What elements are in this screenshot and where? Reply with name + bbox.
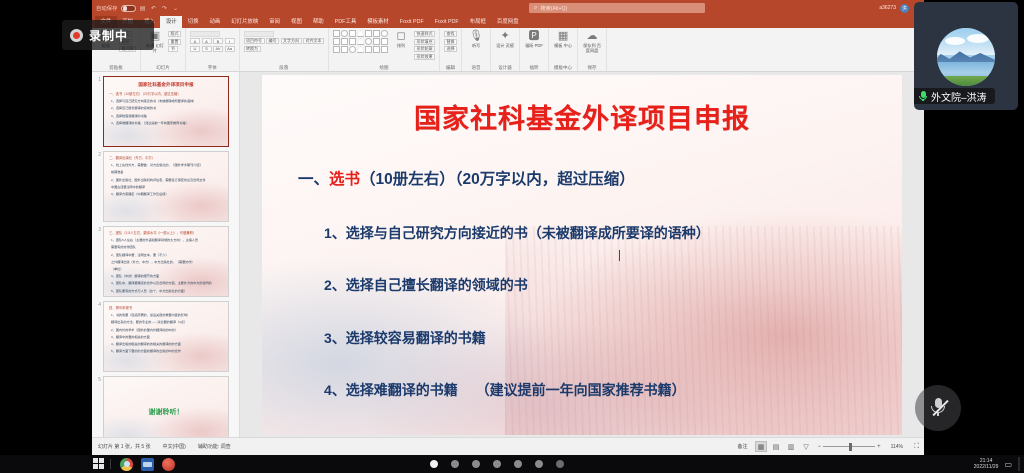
avatar-grass: [937, 76, 995, 86]
slide-thumbnail-line-3-4: （单位）: [111, 266, 228, 271]
ribbon-big-label-9: 模板 中心: [554, 43, 572, 48]
ribbon-combo-row-2: [190, 31, 235, 37]
slide-thumbnail-line-1-2: 3、选择较容易翻译的书籍: [111, 113, 228, 118]
slide-thumbnail-card-1[interactable]: 国家社科基金外译项目申报一、选书（10册左右）（20万字以内，超过压缩）1、选择…: [103, 76, 229, 147]
slide-thumbnail-thanks-5: 谢谢聆听！: [104, 407, 228, 417]
slide-thumbnail-line-1-0: 1、选择与自己研究方向接近的书（未被翻译成所要译的语种）: [111, 98, 228, 103]
slide-count-label: 幻灯片 第 1 张，共 5 张: [92, 443, 157, 450]
taskbar-window-list: [430, 460, 564, 468]
ribbon-control-2-7[interactable]: Aa: [225, 46, 235, 52]
meeting-app-icon[interactable]: [162, 458, 175, 471]
ribbon-control-3-3[interactable]: 对齐文本: [303, 38, 324, 44]
ribbon-group-label-3: 段落: [240, 65, 329, 71]
slide-thumbnail-subtitle-2: 二、翻译出版社（外方、中方）: [109, 155, 228, 160]
windows-taskbar: 21:14 2022/11/29 ▭: [0, 455, 1024, 473]
ribbon-group-controls-5: 查找替换选择: [444, 30, 457, 52]
mute-microphone-button[interactable]: [915, 385, 961, 431]
accessibility-label[interactable]: 辅助功能: 调查: [192, 443, 237, 450]
microphone-icon[interactable]: 🎙听写: [466, 30, 486, 48]
ribbon-row-4-2: 形状轮廓: [414, 46, 435, 52]
shape-swatch-6[interactable]: [381, 30, 388, 37]
normal-view-icon[interactable]: ▦: [755, 441, 767, 452]
ribbon-row-5-1: 替换: [444, 39, 457, 45]
ribbon-row-3-0: 项目符号编号文字方向对齐文本: [244, 38, 325, 44]
slide-thumbnail-line-4-2: 2、国内外的学术（国外的国内外翻译的的中的）: [111, 327, 228, 332]
ribbon-group-label-4: 绘图: [329, 65, 439, 71]
zoom-in-icon[interactable]: +: [877, 444, 881, 450]
ribbon-group-label-2: 字体: [186, 65, 239, 71]
record-dot-icon: [70, 29, 83, 42]
slide-thumbnail-line-2-1: 前期准备: [111, 169, 228, 174]
slide-thumbnail-3[interactable]: 3三、团队（3-5人左右，翻译水平《一般以上》，可做兼职）1、团队5人左右（主要…: [94, 226, 239, 297]
shape-swatch-17[interactable]: [357, 46, 364, 53]
shape-swatch-1[interactable]: [341, 30, 348, 37]
save-icon[interactable]: ▤: [139, 4, 147, 12]
taskbar-divider: [110, 459, 111, 469]
quick-access-toolbar: 自动保存 ▤ ↶ ↷ ⌄: [92, 4, 342, 12]
ribbon-control-2-1[interactable]: A: [202, 38, 212, 44]
shape-swatch-0[interactable]: [333, 30, 340, 37]
slide-thumbnail-card-5[interactable]: 谢谢聆听！: [103, 376, 229, 437]
slide-thumbnail-number-1: 1: [94, 76, 101, 147]
reading-view-icon[interactable]: ▥: [785, 441, 797, 452]
slide-title[interactable]: 国家社科基金外译项目申报: [262, 97, 902, 136]
template-icon[interactable]: ▦模板 中心: [553, 30, 573, 48]
shapes-icon[interactable]: ◻排列: [391, 30, 411, 48]
explorer-icon[interactable]: [141, 458, 154, 471]
ribbon-tab-bar: 文件开始插入设计切换动画幻灯片放映审阅视图帮助PDF工具模板素材Foxit PD…: [92, 16, 924, 28]
search-box[interactable]: ⌕ 搜索(Alt+Q): [529, 3, 705, 13]
record-dot-inner: [73, 32, 80, 39]
shape-swatch-13[interactable]: [381, 38, 388, 45]
work-area: 1国家社科基金外译项目申报一、选书（10册左右）（20万字以内，超过压缩）1、选…: [92, 72, 924, 437]
pdf-icon-glyph: 🅿: [529, 30, 540, 42]
slide-thumbnail-line-3-0: 1、团队5人左右（主要的外语和翻译领域的大方向），主编人员: [111, 237, 228, 242]
ribbon-group-label-6: 语音: [462, 65, 490, 71]
slide-thumbnail-line-2-2: 2、国外出版社、国外出版机构评估表、需要签订保密协议及合同文件: [111, 177, 228, 182]
ribbon-control-2-5[interactable]: S: [202, 46, 212, 52]
ribbon-control-5-0[interactable]: 查找: [444, 31, 457, 37]
ribbon-group-2: AABIUSAVAa字体: [186, 28, 240, 71]
ribbon-tab-15[interactable]: 百度网盘: [491, 16, 524, 28]
ribbon-tab-9[interactable]: 帮助: [307, 16, 329, 28]
ribbon-tab-6[interactable]: 幻灯片放映: [226, 16, 264, 28]
shape-swatch-3[interactable]: [357, 30, 364, 37]
ribbon-tab-4[interactable]: 切换: [182, 16, 204, 28]
slide-bullet-3[interactable]: 3、选择较容易翻译的书籍: [324, 328, 486, 348]
slide-thumbnail-number-5: 5: [94, 376, 101, 437]
ribbon-control-4-1[interactable]: 形状填充: [414, 39, 435, 45]
subtitle-highlight: 选书: [329, 171, 360, 188]
shape-swatch-8[interactable]: [341, 38, 348, 45]
zoom-track[interactable]: [823, 446, 875, 447]
ribbon-tab-14[interactable]: 布局框: [464, 16, 491, 28]
cloud-save-icon[interactable]: ☁保存到 百度网盘: [582, 30, 602, 53]
taskbar-window-1[interactable]: [430, 460, 438, 468]
ribbon-group-10: ☁保存到 百度网盘保存: [578, 28, 607, 71]
ribbon-group-controls-3: 项目符号编号文字方向对齐文本转换为: [244, 30, 325, 52]
ribbon-tab-7[interactable]: 审阅: [264, 16, 286, 28]
ribbon-group-label-1: 幻灯片: [141, 65, 185, 71]
slide-thumbnail-number-2: 2: [94, 151, 101, 222]
ribbon-group-6: 🎙听写语音: [462, 28, 491, 71]
ribbon-tab-12[interactable]: Foxit PDF: [394, 16, 429, 28]
title-bar: 自动保存 ▤ ↶ ↷ ⌄ 国家社科基金外译项目申报 • 已保存到这台电脑 ⌕ 搜…: [92, 0, 924, 16]
microphone-muted-icon: [931, 398, 945, 418]
design-ideas-icon-glyph: ✦: [500, 30, 509, 42]
shape-swatch-10[interactable]: [357, 38, 364, 45]
slide-thumbnail-number-4: 4: [94, 301, 101, 372]
template-icon-glyph: ▦: [558, 30, 568, 42]
subtitle-prefix: 一、: [298, 171, 329, 188]
ribbon-group-9: ▦模板 中心模板中心: [549, 28, 578, 71]
notification-icon[interactable]: ▭: [1004, 460, 1012, 469]
recording-label: 录制中: [89, 27, 128, 44]
ribbon-control-4-3[interactable]: 形状效果: [414, 54, 435, 60]
text-cursor-icon: [619, 250, 620, 261]
powerpoint-window: 自动保存 ▤ ↶ ↷ ⌄ 国家社科基金外译项目申报 • 已保存到这台电脑 ⌕ 搜…: [92, 0, 924, 455]
notes-button[interactable]: 备注: [732, 443, 754, 450]
current-slide[interactable]: 国家社科基金外译项目申报 一、选书（10册左右）（20万字以内，超过压缩） 1、…: [262, 75, 902, 435]
ribbon-row-4-1: 形状填充: [414, 39, 435, 45]
avatar-cloud-2: [967, 34, 989, 43]
pdf-icon[interactable]: 🅿福昕 PDF: [524, 30, 544, 48]
ribbon-tab-10[interactable]: PDF工具: [329, 16, 362, 28]
screen-root: 自动保存 ▤ ↶ ↷ ⌄ 国家社科基金外译项目申报 • 已保存到这台电脑 ⌕ 搜…: [0, 0, 1024, 473]
slide-subtitle[interactable]: 一、选书（10册左右）（20万字以内，超过压缩）: [298, 167, 635, 189]
shape-swatch-20[interactable]: [381, 46, 388, 53]
user-id-label: a36273: [879, 5, 896, 11]
mic-stem: [922, 99, 923, 101]
zoom-level-label[interactable]: 114%: [885, 444, 909, 450]
ribbon-big-label-8: 福昕 PDF: [525, 43, 543, 48]
ribbon-control-2-2[interactable]: B: [213, 38, 223, 44]
ribbon-tab-13[interactable]: Foxit PDF: [429, 16, 464, 28]
slideshow-view-icon[interactable]: ▽: [800, 441, 812, 452]
ribbon-control-5-1[interactable]: 替换: [444, 39, 457, 45]
shape-swatch-12[interactable]: [373, 38, 380, 45]
slide-bullet-4[interactable]: 4、选择难翻译的书籍 （建议提前一年向国家推荐书籍）: [324, 380, 686, 400]
ribbon-control-3-0[interactable]: 项目符号: [244, 38, 265, 44]
slide-thumbnail-pane[interactable]: 1国家社科基金外译项目申报一、选书（10册左右）（20万字以内，超过压缩）1、选…: [92, 72, 240, 437]
slide-thumbnail-card-2[interactable]: 二、翻译出版社（外方、中方）1、线上先找外方，需要做：对方出版社的，《国外学术期…: [103, 151, 229, 222]
ribbon-row-1-0: 版式: [168, 31, 181, 37]
shape-swatch-5[interactable]: [373, 30, 380, 37]
windows-start-icon[interactable]: [93, 458, 105, 470]
slide-thumbnail-line-3-6: 4、团队中，翻译要确定的合作以及合同的方面，主要外方的中方的合同的: [111, 280, 228, 285]
ribbon-group-controls-1: 版式重置节: [168, 30, 181, 52]
shape-swatch-4[interactable]: [365, 30, 372, 37]
ribbon: 📋粘贴剪切复制格式刷剪贴板▣新建 幻灯片版式重置节幻灯片AABIUSAVAa字体…: [92, 28, 924, 72]
slide-sorter-view-icon[interactable]: ▤: [770, 441, 782, 452]
slide-thumbnail-subtitle-1: 一、选书（10册左右）（20万字以内，超过压缩）: [109, 91, 228, 96]
taskbar-window-2[interactable]: [451, 460, 459, 468]
taskbar-window-4[interactable]: [493, 460, 501, 468]
ribbon-row-2-4: USAVAa: [190, 46, 235, 52]
shapes-icon-glyph: ◻: [396, 30, 405, 42]
ribbon-group-label-7: 设计器: [491, 65, 519, 71]
ribbon-row-4-3: 形状效果: [414, 54, 435, 60]
language-label[interactable]: 中文(中国): [157, 443, 192, 450]
ribbon-group-3: 项目符号编号文字方向对齐文本转换为 段落: [240, 28, 330, 71]
ribbon-group-label-8: 福昕: [520, 65, 548, 71]
participant-name: 外文院–洪涛: [931, 89, 987, 104]
ribbon-row-5-2: 选择: [444, 46, 457, 52]
ribbon-row-1-2: 节: [168, 46, 181, 52]
ribbon-group-label-0: 剪贴板: [92, 65, 140, 71]
ribbon-group-controls-4: 快速样式形状填充形状轮廓形状效果: [414, 30, 435, 60]
slide-thumbnail-line-3-1: 需要有的协作团队: [111, 244, 228, 249]
ribbon-row-2-0: AABI: [190, 38, 235, 44]
ribbon-group-7: ✦设计 灵感设计器: [491, 28, 520, 71]
shape-swatch-14[interactable]: [333, 46, 340, 53]
slide-thumbnail-number-3: 3: [94, 226, 101, 297]
autosave-label: 自动保存: [96, 5, 118, 12]
microphone-icon-glyph: 🎙: [469, 30, 483, 42]
ribbon-big-label-7: 设计 灵感: [496, 43, 514, 48]
ribbon-control-4-2[interactable]: 形状轮廓: [414, 46, 435, 52]
microphone-icon: [919, 91, 927, 102]
chevron-down-icon[interactable]: ⌄: [172, 4, 180, 12]
shape-swatch-18[interactable]: [365, 46, 372, 53]
fit-slide-icon[interactable]: ⛶: [911, 441, 923, 452]
ribbon-big-label-6: 听写: [472, 43, 480, 48]
slide-thumbnail-1[interactable]: 1国家社科基金外译项目申报一、选书（10册左右）（20万字以内，超过压缩）1、选…: [94, 76, 239, 147]
shape-swatch-11[interactable]: [365, 38, 372, 45]
avatar-image: [937, 28, 995, 86]
participant-video-tile[interactable]: 外文院–洪涛: [914, 2, 1018, 110]
undo-icon[interactable]: ↶: [150, 4, 158, 12]
slide-thumbnail-5[interactable]: 5谢谢聆听！: [94, 376, 239, 437]
slide-thumbnail-line-3-5: 3、团队（中的）翻译的细节的方面: [111, 273, 228, 278]
ribbon-group-label-10: 保存: [578, 65, 606, 71]
taskbar-window-3[interactable]: [472, 460, 480, 468]
ribbon-control-3-2[interactable]: 文字方向: [281, 38, 302, 44]
slide-thumbnail-line-4-1: 翻译出来的方法，要的专业的——对此要的翻译（4点）: [111, 319, 228, 324]
ribbon-group-controls-2: AABIUSAVAa: [190, 30, 235, 52]
taskbar-window-7[interactable]: [556, 460, 564, 468]
slide-canvas-area: 国家社科基金外译项目申报 一、选书（10册左右）（20万字以内，超过压缩） 1、…: [240, 72, 924, 437]
shape-swatch-16[interactable]: [349, 46, 356, 53]
cloud-save-icon-glyph: ☁: [587, 30, 598, 42]
shape-swatch-9[interactable]: [349, 38, 356, 45]
recording-indicator[interactable]: 录制中: [62, 20, 154, 50]
ribbon-tab-3[interactable]: 设计: [160, 16, 182, 28]
avatar-cloud-1: [945, 37, 965, 45]
ribbon-row-4-0: 快速样式: [414, 31, 435, 37]
slide-thumbnail-card-4[interactable]: 四、撰写申报书1、书的简要（包括原著的，最后关键的重要内容的影响）翻译出来的方法…: [103, 301, 229, 372]
shapes-gallery[interactable]: [333, 30, 388, 53]
slide-thumbnail-subtitle-4: 四、撰写申报书: [109, 305, 228, 310]
ribbon-row-3-4: 转换为: [244, 46, 325, 52]
ribbon-combo-3[interactable]: [244, 31, 274, 37]
zoom-knob[interactable]: [849, 443, 852, 451]
ribbon-control-2-4[interactable]: U: [190, 46, 200, 52]
slide-thumbnail-line-1-1: 2、选择自己擅长翻译的领域的书: [111, 105, 228, 110]
ribbon-big-label-4: 排列: [397, 43, 405, 48]
slide-thumbnail-2[interactable]: 2二、翻译出版社（外方、中方）1、线上先找外方，需要做：对方出版社的，《国外学术…: [94, 151, 239, 222]
ribbon-tab-5[interactable]: 动画: [204, 16, 226, 28]
design-ideas-icon[interactable]: ✦设计 灵感: [495, 30, 515, 48]
taskbar-window-5[interactable]: [514, 460, 522, 468]
slide-thumbnail-line-3-3: 之外翻译出版（外方、中方），中方出版社的，（需要协作）: [111, 259, 228, 264]
ribbon-control-1-2[interactable]: 节: [168, 46, 178, 52]
ribbon-group-4: ◻排列快速样式形状填充形状轮廓形状效果绘图: [329, 28, 440, 71]
zoom-out-icon[interactable]: −: [818, 444, 822, 450]
ribbon-combo-row-3: [244, 31, 325, 37]
shape-swatch-15[interactable]: [341, 46, 348, 53]
ribbon-control-4-0[interactable]: 快速样式: [414, 31, 435, 37]
ribbon-row-5-0: 查找: [444, 31, 457, 37]
ribbon-row-1-1: 重置: [168, 39, 181, 45]
slide-thumbnail-title-1: 国家社科基金外译项目申报: [104, 82, 228, 88]
ribbon-big-label-10: 保存到 百度网盘: [582, 43, 602, 53]
slide-thumbnail-line-3-8: 翻译的相关（几个）的中方翻译工作（需要的中方的翻译和出版合作）: [111, 295, 228, 297]
ribbon-group-label-9: 模板中心: [549, 65, 577, 71]
ribbon-control-5-2[interactable]: 选择: [444, 46, 457, 52]
slide-thumbnail-line-4-4: 4、翻译出版的相关的翻译的的相关的翻译的的方面: [111, 341, 228, 346]
ribbon-control-2-6[interactable]: AV: [213, 46, 223, 52]
slide-thumbnail-line-2-0: 1、线上先找外方，需要做：对方出版社的，《国外学术期刊介绍》: [111, 162, 228, 167]
slide-bullet-2[interactable]: 2、选择自己擅长翻译的领域的书: [324, 275, 528, 295]
search-icon: ⌕: [534, 5, 537, 12]
ribbon-control-2-0[interactable]: A: [190, 38, 200, 44]
ribbon-tab-11[interactable]: 模板素材: [362, 16, 395, 28]
shape-swatch-7[interactable]: [333, 38, 340, 45]
tray-clock[interactable]: 21:14 2022/11/29: [974, 458, 999, 470]
slide-thumbnail-line-3-7: 5、团队要有的方式与人员（这个、中方出版社的方面）: [111, 288, 228, 293]
ribbon-control-2-3[interactable]: I: [225, 38, 235, 44]
zoom-slider[interactable]: − +: [818, 444, 881, 450]
slide-thumbnail-subtitle-3: 三、团队（3-5人左右，翻译水平《一般以上》，可做兼职）: [109, 230, 228, 235]
ribbon-combo-2[interactable]: [190, 31, 220, 37]
ribbon-group-5: 查找替换选择编辑: [440, 28, 462, 71]
slide-thumbnail-4[interactable]: 4四、撰写申报书1、书的简要（包括原著的，最后关键的重要内容的影响）翻译出来的方…: [94, 301, 239, 372]
subtitle-rest: （10册左右）（20万字以内，超过压缩）: [360, 171, 635, 188]
ribbon-tab-8[interactable]: 视图: [286, 16, 308, 28]
shape-swatch-2[interactable]: [349, 30, 356, 37]
slide-thumbnail-line-4-0: 1、书的简要（包括原著的，最后关键的重要内容的影响）: [111, 312, 228, 317]
system-tray: 21:14 2022/11/29 ▭: [974, 457, 1020, 471]
taskbar-window-6[interactable]: [535, 460, 543, 468]
show-desktop-button[interactable]: [1018, 457, 1020, 471]
slide-thumbnail-line-1-3: 4、选择难翻译的书籍 （建议提前一年向国家推荐书籍）: [111, 120, 228, 125]
search-placeholder: 搜索(Alt+Q): [540, 5, 567, 12]
ribbon-control-1-1[interactable]: 重置: [168, 39, 181, 45]
chrome-icon[interactable]: [120, 458, 133, 471]
status-bar: 幻灯片 第 1 张，共 5 张 中文(中国) 辅助功能: 调查 备注 ▦ ▤ ▥…: [92, 437, 924, 455]
redo-icon[interactable]: ↷: [161, 4, 169, 12]
participant-name-badge: 外文院–洪涛: [914, 88, 995, 104]
ribbon-control-3-4[interactable]: 转换为: [244, 46, 261, 52]
shape-swatch-19[interactable]: [373, 46, 380, 53]
avatar[interactable]: 洪: [900, 4, 909, 13]
slide-thumbnail-line-4-3: 3、翻译中的要的相关的方面: [111, 334, 228, 339]
slide-bullet-1[interactable]: 1、选择与自己研究方向接近的书（未被翻译成所要译的语种）: [324, 223, 710, 243]
autosave-toggle[interactable]: [121, 5, 136, 12]
mute-stem: [937, 412, 939, 416]
ribbon-control-1-0[interactable]: 版式: [168, 31, 181, 37]
slide-thumbnail-line-4-5: 5、翻译方面下要的的方面的翻译的出版的中的合作: [111, 348, 228, 353]
slide-thumbnail-line-2-4: 3、翻译方案确定（中期翻译工作及后续）: [111, 191, 228, 196]
slide-thumbnail-line-3-2: 2、团队翻译中要：注明文本，要（不少）: [111, 252, 228, 257]
ribbon-group-8: 🅿福昕 PDF福昕: [520, 28, 549, 71]
slide-thumbnail-card-3[interactable]: 三、团队（3-5人左右，翻译水平《一般以上》，可做兼职）1、团队5人左右（主要的…: [103, 226, 229, 297]
ribbon-group-label-5: 编辑: [440, 65, 461, 71]
autosave-toggle-knob: [123, 6, 128, 11]
slide-thumbnail-line-2-3: 中国古话要注明中的翻译: [111, 184, 228, 189]
ribbon-control-3-1[interactable]: 编号: [266, 38, 279, 44]
tray-date: 2022/11/29: [974, 464, 999, 470]
